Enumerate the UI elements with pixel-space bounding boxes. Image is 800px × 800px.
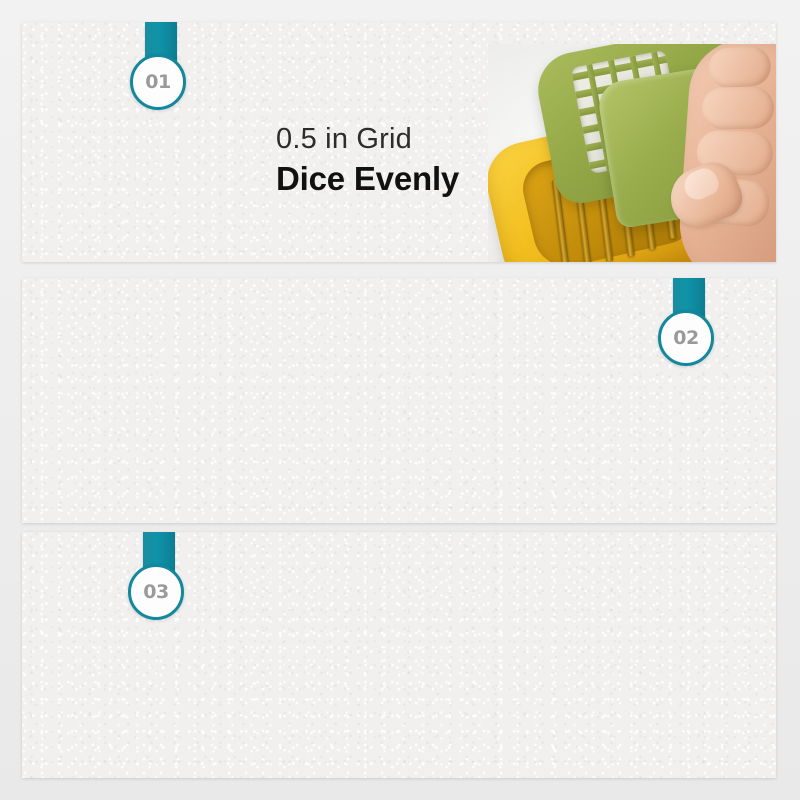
panel-texture-3 <box>22 532 776 778</box>
badge-circle-2: 02 <box>658 310 714 366</box>
badge-number-3: 03 <box>143 581 168 603</box>
product-photo-dice-evenly <box>488 44 776 262</box>
badge-circle-3: 03 <box>128 564 184 620</box>
badge-number-1: 01 <box>145 71 170 93</box>
feature-panel-3: Silicone Anti-slip Pad 03 <box>22 532 776 778</box>
product-feature-infographic: 0.5 in Grid Dice Evenly 01 <box>0 0 800 800</box>
feature-subhead-1: 0.5 in Grid <box>276 122 459 156</box>
panel-texture-2 <box>22 278 776 523</box>
feature-panel-1: 0.5 in Grid Dice Evenly 01 <box>22 22 776 262</box>
feature-headline-1: Dice Evenly <box>276 160 459 199</box>
badge-number-2: 02 <box>673 327 698 349</box>
feature-panel-2: Detachable Base Easy to Clean 02 <box>22 278 776 523</box>
feature-text-1: 0.5 in Grid Dice Evenly <box>276 122 459 199</box>
badge-circle-1: 01 <box>130 54 186 110</box>
